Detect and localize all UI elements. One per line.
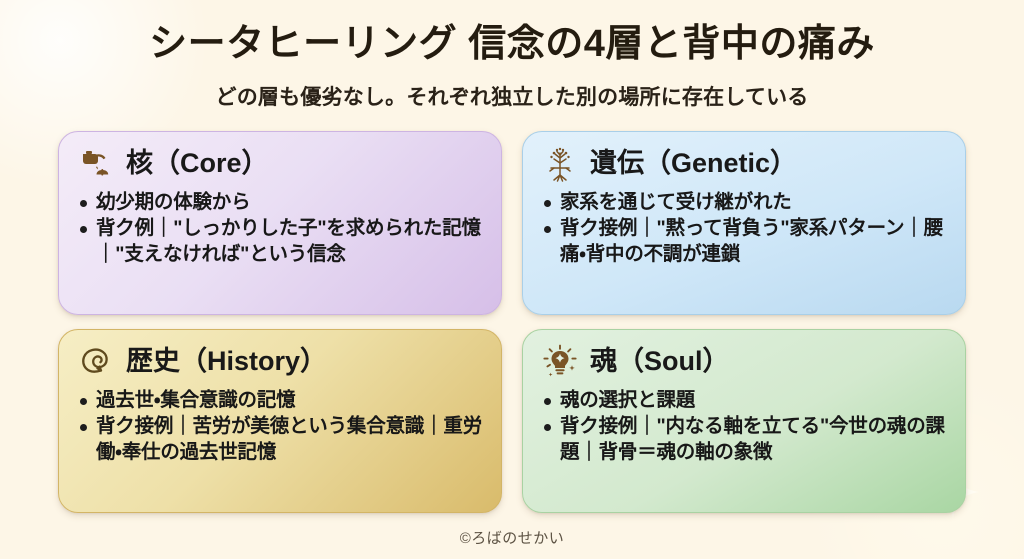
list-item: 過去世・集合意識の記憶 (77, 388, 483, 413)
card-core: 核（Core） 幼少期の体験から 背ク例｜"しっかりした子"を求められた記憶｜"… (58, 131, 502, 315)
header: シータヒーリング 信念の4層と背中の痛み どの層も優劣なし。それぞれ独立した別の… (58, 22, 966, 111)
card-soul-title: 魂（Soul） (590, 347, 730, 377)
card-genetic-title: 遺伝（Genetic） (590, 149, 797, 179)
list-item: 背ク例｜"しっかりした子"を求められた記憶｜"支えなければ"という信念 (77, 216, 483, 267)
watering-can-seedling-icon (77, 145, 115, 183)
card-core-header: 核（Core） (77, 145, 483, 183)
list-item: 魂の選択と課題 (541, 388, 947, 413)
list-item: 背ク接例｜"内なる軸を立てる"今世の魂の課題｜背骨＝魂の軸の象徴 (541, 414, 947, 465)
card-soul-header: 魂（Soul） (541, 343, 947, 381)
card-genetic: 遺伝（Genetic） 家系を通じて受け継がれた 背ク接例｜"黙って背負う"家系… (522, 131, 966, 315)
page-title: シータヒーリング 信念の4層と背中の痛み (58, 22, 966, 67)
cards-grid: 核（Core） 幼少期の体験から 背ク例｜"しっかりした子"を求められた記憶｜"… (58, 131, 966, 513)
card-genetic-bullets: 家系を通じて受け継がれた 背ク接例｜"黙って背負う"家系パターン｜腰痛・背中の不… (541, 190, 947, 267)
card-soul-bullets: 魂の選択と課題 背ク接例｜"内なる軸を立てる"今世の魂の課題｜背骨＝魂の軸の象徴 (541, 388, 947, 465)
spiral-icon (77, 343, 115, 381)
card-soul: 魂（Soul） 魂の選択と課題 背ク接例｜"内なる軸を立てる"今世の魂の課題｜背… (522, 329, 966, 513)
card-core-bullets: 幼少期の体験から 背ク例｜"しっかりした子"を求められた記憶｜"支えなければ"と… (77, 190, 483, 267)
infographic-page: シータヒーリング 信念の4層と背中の痛み どの層も優劣なし。それぞれ独立した別の… (0, 0, 1024, 559)
card-history-bullets: 過去世・集合意識の記憶 背ク接例｜苦労が美徳という集合意識｜重労働・奉仕の過去世… (77, 388, 483, 465)
card-genetic-header: 遺伝（Genetic） (541, 145, 947, 183)
card-history: 歴史（History） 過去世・集合意識の記憶 背ク接例｜苦労が美徳という集合意… (58, 329, 502, 513)
tree-with-roots-icon (541, 145, 579, 183)
list-item: 家系を通じて受け継がれた (541, 190, 947, 215)
card-core-title: 核（Core） (126, 149, 269, 179)
list-item: 背ク接例｜苦労が美徳という集合意識｜重労働・奉仕の過去世記憶 (77, 414, 483, 465)
list-item: 幼少期の体験から (77, 190, 483, 215)
lightbulb-idea-icon (541, 343, 579, 381)
list-item: 背ク接例｜"黙って背負う"家系パターン｜腰痛・背中の不調が連鎖 (541, 216, 947, 267)
page-subtitle: どの層も優劣なし。それぞれ独立した別の場所に存在している (58, 81, 966, 111)
card-history-header: 歴史（History） (77, 343, 483, 381)
card-history-title: 歴史（History） (126, 347, 327, 377)
footer-credit: ©ろばのせかい (0, 527, 1024, 548)
